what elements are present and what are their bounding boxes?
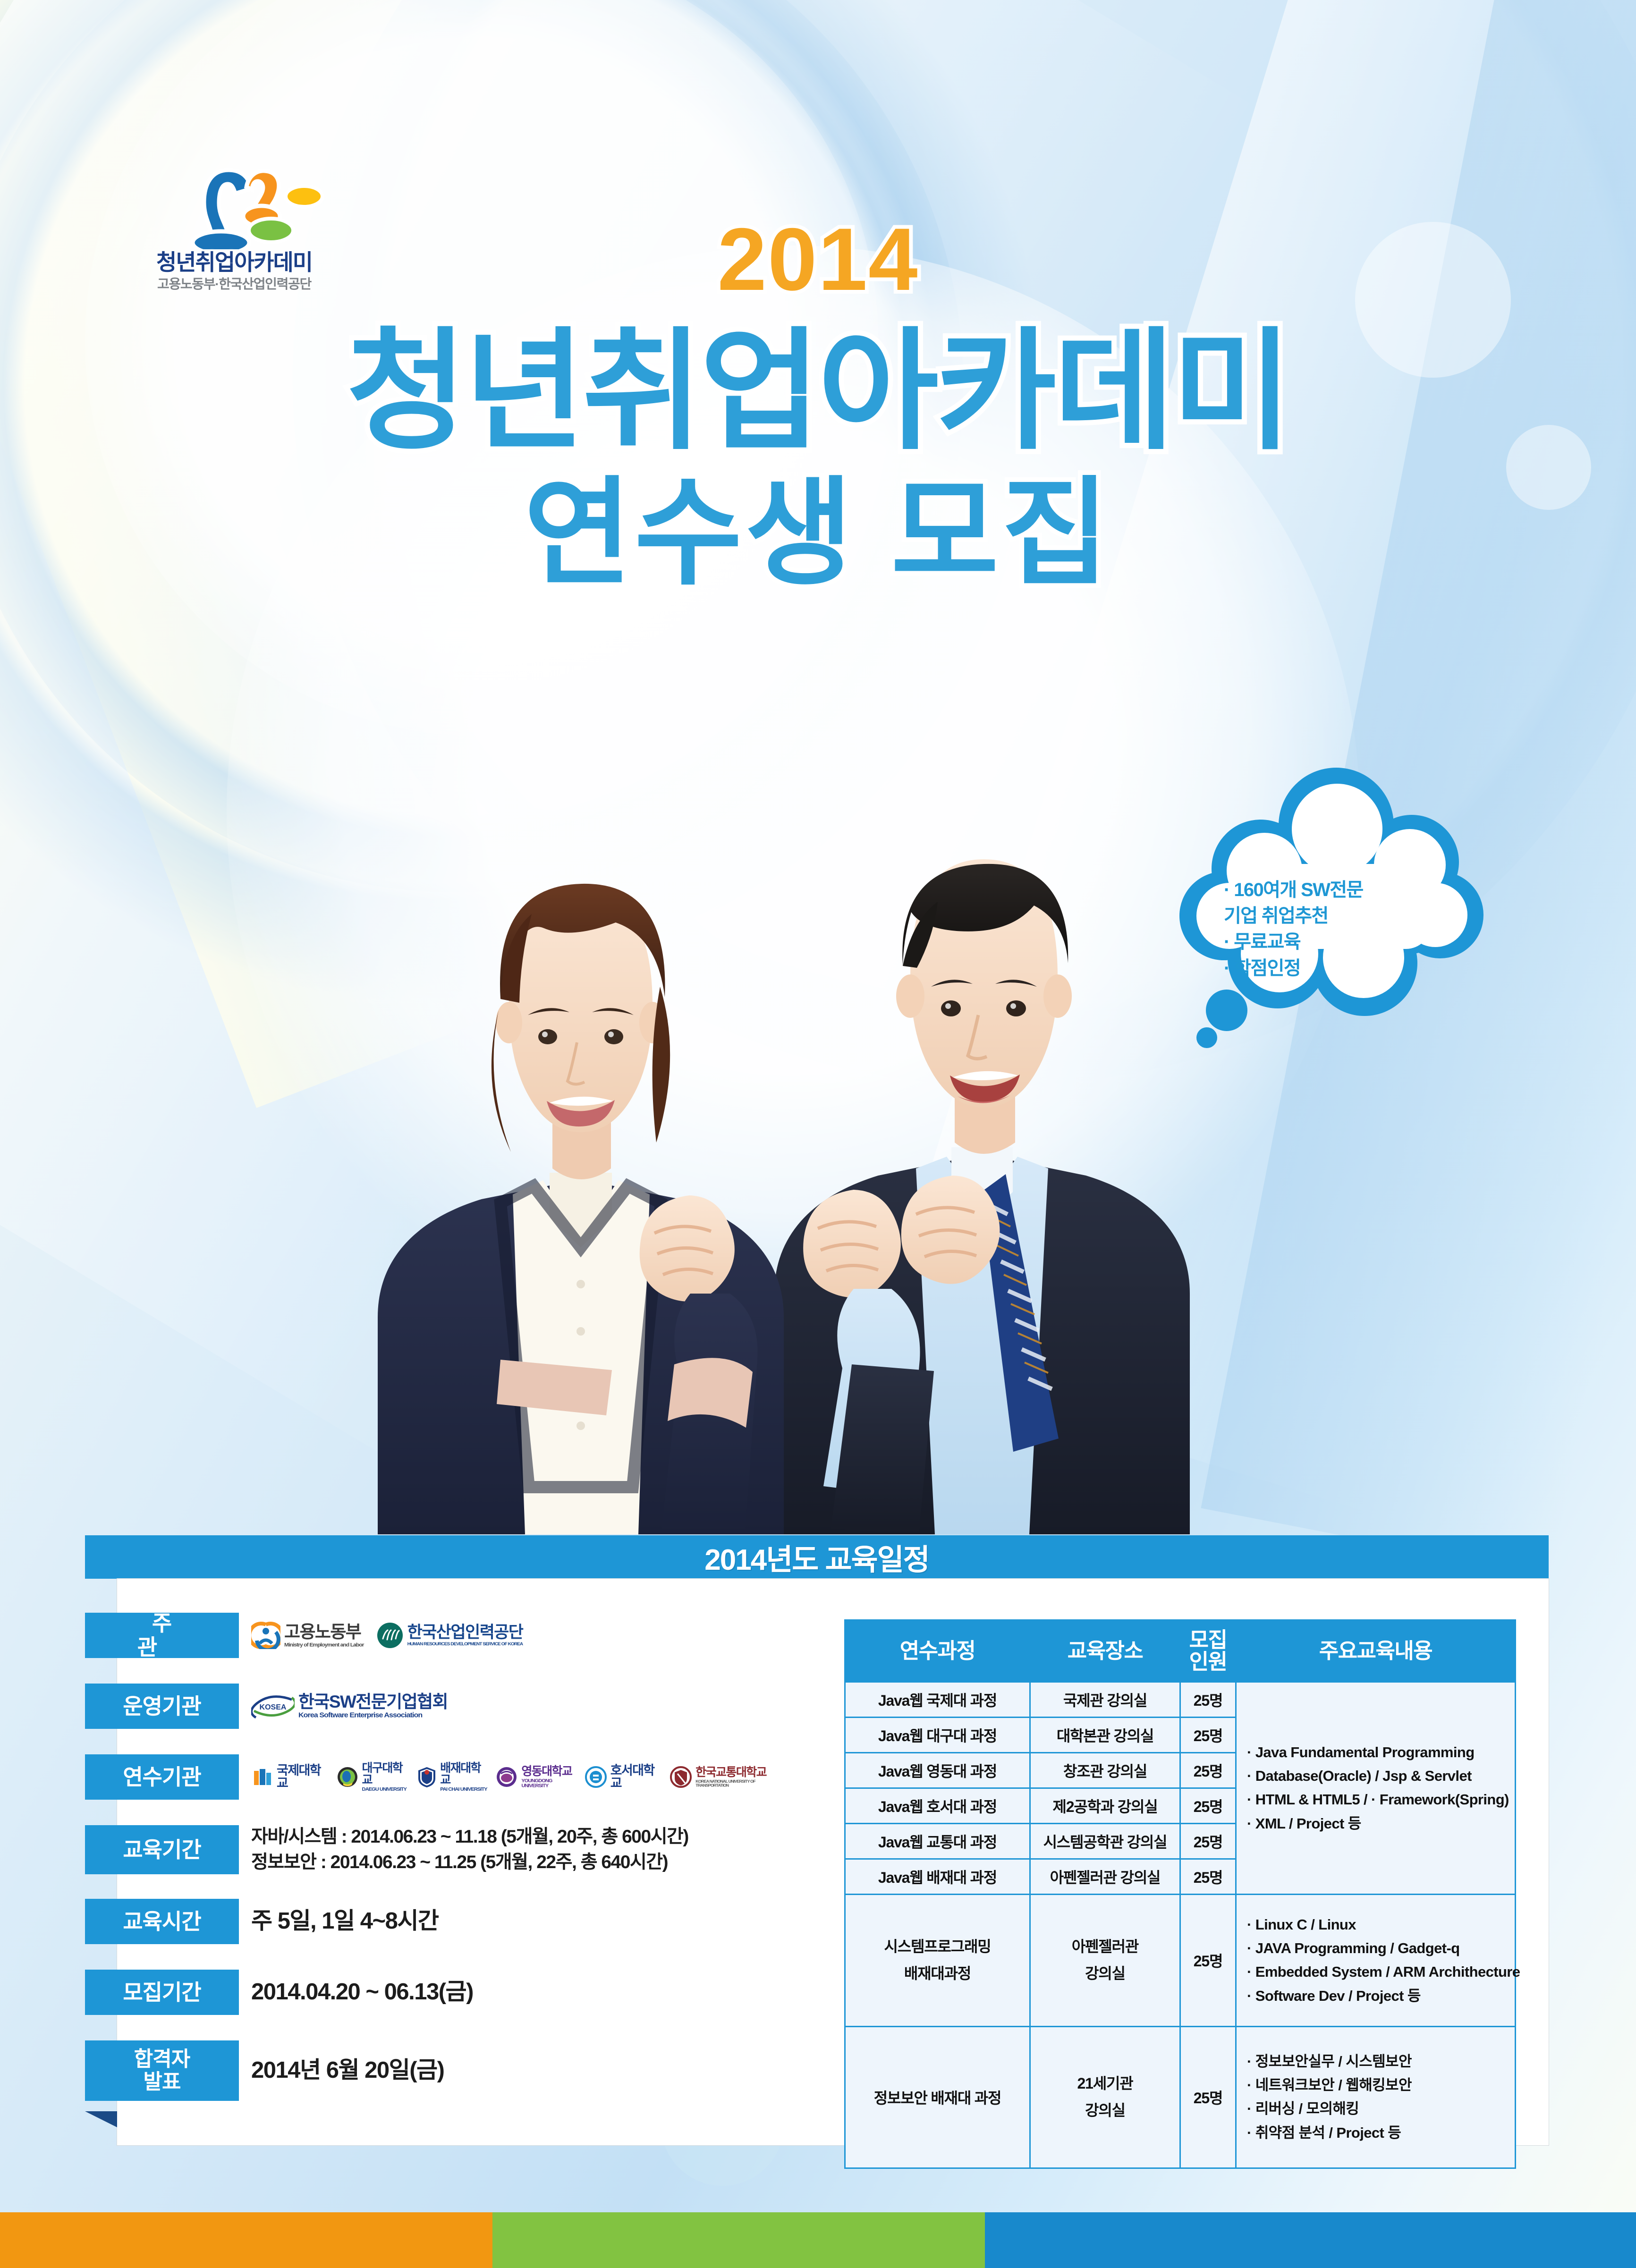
info-row-application-period: 모집기간 2014.04.20 ~ 06.13(금) [85,1970,784,2040]
logo-moel: 고용노동부 Ministry of Employment and Labor [251,1622,364,1649]
logo-kosea-en: Korea Software Enterprise Association [298,1712,448,1719]
logo-kosea-kr: 한국SW전문기업협회 [298,1693,448,1710]
announcement-text: 2014년 6월 20일(금) [251,2055,444,2087]
cell-course: Java웹 배재대 과정 [845,1859,1030,1894]
table-row: 시스템프로그래밍 배재대과정 아펜젤러관 강의실 25명 · Linux C /… [845,1894,1516,2026]
table-row: Java웹 국제대 과정 국제관 강의실 25명 · Java Fundamen… [845,1682,1516,1717]
course-table: 연수과정 교육장소 모집 인원 주요교육내용 Java웹 국제대 과정 국제관 … [844,1619,1516,2169]
cell-place: 아펜젤러관 강의실 [1030,1859,1180,1894]
info-label-host: 주 관 [85,1613,239,1658]
logo-hrdk: 한국산업인력공단 HUMAN RESOURCES DEVELOPMENT SER… [376,1622,523,1649]
cell-quota: 25명 [1180,1752,1236,1788]
info-label-application-period-text: 모집기간 [123,1980,201,2005]
logo-paichai-en: PAI CHAI UNIVERSITY [440,1787,487,1792]
cell-quota: 25명 [1180,1717,1236,1752]
content-line: · JAVA Programming / Gadget-q [1247,1937,1510,1960]
info-value-education-hours: 주 5일, 1일 4~8시간 [251,1899,784,1944]
info-value-announcement: 2014년 6월 20일(금) [251,2040,784,2101]
footer-color-bar [0,2212,1636,2268]
logo-hoseo-kr: 호서대학교 [610,1764,662,1790]
content-line: · Embedded System / ARM Archithecture [1247,1960,1510,1984]
poster-root: 청년취업아카데미 고용노동부·한국산업인력공단 2014 청년취업아카데미 연수… [0,0,1636,2268]
hrdk-icon [376,1622,404,1649]
logo-daegu-en: DAEGU UNIVERSITY [362,1787,409,1792]
cell-course: Java웹 국제대 과정 [845,1682,1030,1717]
logo-youngdong-en: YOUNGDONG UNIVERSITY [521,1778,576,1788]
info-value-education-period: 자바/시스템 : 2014.06.23 ~ 11.18 (5개월, 20주, 총… [251,1825,784,1874]
hoseo-icon [585,1766,607,1788]
benefit-line-3: · 무료교육 [1224,929,1432,955]
male-student [774,859,1190,1534]
education-hours-text: 주 5일, 1일 4~8시간 [251,1905,438,1938]
content-line: · Linux C / Linux [1247,1913,1510,1937]
kosea-icon: KOSEA [251,1693,295,1719]
cell-place: 창조관 강의실 [1030,1752,1180,1788]
cell-contents-security: · 정보보안실무 / 시스템보안 · 네트워크보안 / 웹해킹보안 · 리버싱 … [1236,2026,1516,2168]
cell-quota: 25명 [1180,1894,1236,2026]
content-line: · 정보보안실무 / 시스템보안 [1247,2050,1510,2073]
info-row-training-institutions: 연수기관 국제대학교 [85,1754,784,1825]
course-table-header-row: 연수과정 교육장소 모집 인원 주요교육내용 [845,1620,1516,1682]
info-label-operator-text: 운영기관 [123,1694,201,1718]
info-label-training-institutions-text: 연수기관 [123,1765,201,1789]
info-label-education-hours: 교육시간 [85,1899,239,1944]
info-row-announcement: 합격자 발표 2014년 6월 20일(금) [85,2040,784,2111]
info-row-education-hours: 교육시간 주 5일, 1일 4~8시간 [85,1899,784,1970]
logo-kookje-univ: 국제대학교 [251,1764,328,1790]
education-period-line-2: 정보보안 : 2014.06.23 ~ 11.25 (5개월, 22주, 총 6… [251,1850,688,1875]
col-header-contents: 주요교육내용 [1236,1620,1516,1682]
headline-year: 2014 [0,215,1636,304]
logo-youngdong-kr: 영동대학교 [521,1766,576,1777]
logo-youngdong-univ: 영동대학교 YOUNGDONG UNIVERSITY [496,1766,576,1789]
cell-course: Java웹 호서대 과정 [845,1788,1030,1823]
schedule-banner-title: 2014년도 교육일정 [704,1536,929,1578]
cell-quota: 25명 [1180,1788,1236,1823]
cell-place: 제2공학과 강의실 [1030,1788,1180,1823]
headline-line2: 연수생 모집 [0,474,1636,592]
benefit-line-2: 기업 취업추천 [1224,903,1432,929]
info-value-training-institutions: 국제대학교 대구대학교 DAEGU UNIVERSITY [251,1754,784,1800]
logo-hrdk-kr: 한국산업인력공단 [407,1624,523,1641]
logo-hoseo-univ: 호서대학교 [585,1764,662,1790]
cell-course: 정보보안 배재대 과정 [845,2026,1030,2168]
kookje-icon [251,1766,273,1788]
application-period-text: 2014.04.20 ~ 06.13(금) [251,1976,473,2008]
logo-knut-univ: 한국교통대학교 KOREA NATIONAL UNIVERSITY OF TRA… [670,1766,784,1788]
female-student [378,884,784,1534]
benefit-line-4: · 학점인정 [1224,956,1432,982]
logo-paichai-univ: 배재대학교 PAI CHAI UNIVERSITY [417,1762,487,1792]
content-line: · Software Dev / Project 등 [1247,1984,1510,2008]
info-value-host: 고용노동부 Ministry of Employment and Labor [251,1613,784,1658]
info-label-announcement: 합격자 발표 [85,2040,239,2101]
cell-place: 대학본관 강의실 [1030,1717,1180,1752]
benefit-line-1: · 160여개 SW전문 [1224,877,1432,903]
content-line: · 취약점 분석 / Project 등 [1247,2121,1510,2145]
cell-place: 21세기관 강의실 [1030,2026,1180,2168]
logo-kookje-kr: 국제대학교 [277,1764,328,1790]
logo-daegu-univ: 대구대학교 DAEGU UNIVERSITY [337,1762,409,1792]
footer-bar-green [492,2212,985,2268]
cell-course: 시스템프로그래밍 배재대과정 [845,1894,1030,2026]
info-label-education-period-text: 교육기간 [123,1838,201,1862]
col-header-quota: 모집 인원 [1180,1620,1236,1682]
info-value-application-period: 2014.04.20 ~ 06.13(금) [251,1970,784,2015]
cell-quota: 25명 [1180,2026,1236,2168]
education-period-line-1: 자바/시스템 : 2014.06.23 ~ 11.18 (5개월, 20주, 총… [251,1824,688,1850]
info-label-application-period: 모집기간 [85,1970,239,2015]
logo-paichai-kr: 배재대학교 [440,1762,487,1786]
info-row-host: 주 관 고용노동부 Ministry of Emp [85,1613,784,1684]
content-line: · HTML & HTML5 / · Framework(Spring) [1247,1788,1510,1811]
benefits-thought-bubble: · 160여개 SW전문 기업 취업추천 · 무료교육 · 학점인정 [1166,765,1487,1048]
knut-icon [670,1766,692,1788]
col-header-course: 연수과정 [845,1620,1030,1682]
content-line: · XML / Project 등 [1247,1812,1510,1836]
cell-course: Java웹 교통대 과정 [845,1823,1030,1859]
content-line: · 리버싱 / 모의해킹 [1247,2097,1510,2121]
table-row: 정보보안 배재대 과정 21세기관 강의실 25명 · 정보보안실무 / 시스템… [845,2026,1516,2168]
cell-quota: 25명 [1180,1682,1236,1717]
svg-text:KOSEA: KOSEA [260,1703,287,1711]
cell-quota: 25명 [1180,1859,1236,1894]
daegu-icon [337,1766,358,1788]
info-label-announcement-text: 합격자 발표 [134,2048,190,2094]
schedule-banner: 2014년도 교육일정 [85,1535,1549,1579]
info-label-host-text: 주 관 [91,1611,233,1659]
content-line: · Database(Oracle) / Jsp & Servlet [1247,1764,1510,1788]
info-label-education-hours-text: 교육시간 [123,1910,201,1934]
logo-knut-en: KOREA NATIONAL UNIVERSITY OF TRANSPORTAT… [695,1779,784,1787]
content-line: · Java Fundamental Programming [1247,1741,1510,1764]
info-label-education-period: 교육기간 [85,1825,239,1874]
logo-hrdk-en: HUMAN RESOURCES DEVELOPMENT SERVICE OF K… [407,1642,523,1646]
info-label-operator: 운영기관 [85,1684,239,1729]
footer-bar-orange [0,2212,492,2268]
cell-contents-system: · Linux C / Linux · JAVA Programming / G… [1236,1894,1516,2026]
info-rows: 주 관 고용노동부 Ministry of Emp [85,1613,784,2111]
cell-course: Java웹 영동대 과정 [845,1752,1030,1788]
cell-place: 국제관 강의실 [1030,1682,1180,1717]
paichai-icon [417,1766,436,1788]
youngdong-icon [496,1766,517,1788]
benefits-list: · 160여개 SW전문 기업 취업추천 · 무료교육 · 학점인정 [1224,877,1432,982]
moel-icon [251,1622,280,1649]
logo-daegu-kr: 대구대학교 [362,1762,409,1786]
footer-bar-blue [985,2212,1636,2268]
cell-place: 아펜젤러관 강의실 [1030,1894,1180,2026]
cell-contents-java: · Java Fundamental Programming · Databas… [1236,1682,1516,1894]
content-line: · 네트워크보안 / 웹해킹보안 [1247,2073,1510,2097]
info-label-training-institutions: 연수기관 [85,1754,239,1800]
cell-course: Java웹 대구대 과정 [845,1717,1030,1752]
info-row-operator: 운영기관 KOSEA 한국SW전문기업협회 Korea Software Ent… [85,1684,784,1754]
logo-knut-kr: 한국교통대학교 [695,1767,784,1778]
students-photo [359,703,1228,1534]
info-value-operator: KOSEA 한국SW전문기업협회 Korea Software Enterpri… [251,1684,784,1729]
cell-place: 시스템공학관 강의실 [1030,1823,1180,1859]
cell-quota: 25명 [1180,1823,1236,1859]
logo-kosea: KOSEA 한국SW전문기업협회 Korea Software Enterpri… [251,1693,448,1719]
logo-moel-kr: 고용노동부 [284,1623,364,1641]
col-header-place: 교육장소 [1030,1620,1180,1682]
info-row-education-period: 교육기간 자바/시스템 : 2014.06.23 ~ 11.18 (5개월, 2… [85,1825,784,1899]
headline-line1: 청년취업아카데미 [0,326,1636,457]
logo-moel-en: Ministry of Employment and Labor [284,1642,364,1647]
